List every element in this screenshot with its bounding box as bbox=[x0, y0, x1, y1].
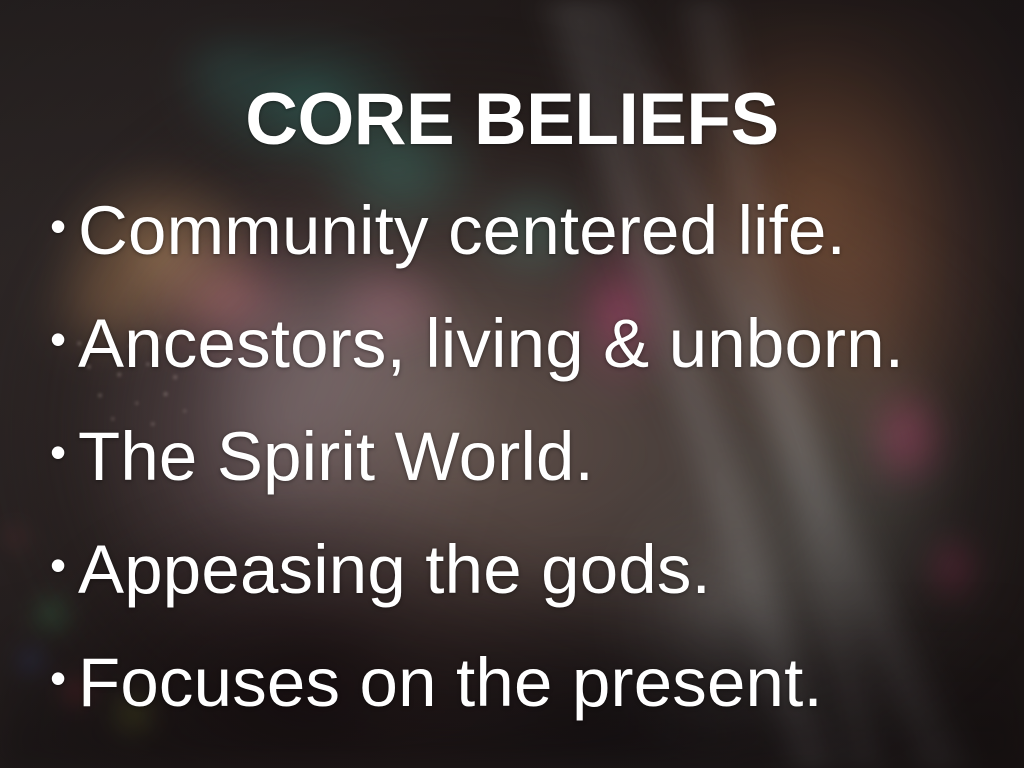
list-item: • Community centered life. bbox=[44, 196, 984, 309]
bullet-text: Appeasing the gods. bbox=[78, 535, 984, 604]
slide-content: CORE BELIEFS • Community centered life. … bbox=[0, 0, 1024, 768]
bullet-point-icon: • bbox=[50, 429, 84, 475]
bullet-point-icon: • bbox=[50, 203, 84, 249]
list-item: • Ancestors, living & unborn. bbox=[44, 309, 984, 422]
slide-title: CORE BELIEFS bbox=[0, 83, 1024, 156]
bullet-list: • Community centered life. • Ancestors, … bbox=[44, 196, 984, 761]
list-item: • Focuses on the present. bbox=[44, 648, 984, 761]
list-item: • Appeasing the gods. bbox=[44, 535, 984, 648]
bullet-text: Ancestors, living & unborn. bbox=[78, 309, 984, 378]
bullet-text: Focuses on the present. bbox=[78, 648, 984, 717]
bullet-text: Community centered life. bbox=[78, 196, 984, 265]
bullet-point-icon: • bbox=[50, 655, 84, 701]
bullet-point-icon: • bbox=[50, 542, 84, 588]
presentation-slide: CORE BELIEFS • Community centered life. … bbox=[0, 0, 1024, 768]
list-item: • The Spirit World. bbox=[44, 422, 984, 535]
bullet-text: The Spirit World. bbox=[78, 422, 984, 491]
bullet-point-icon: • bbox=[50, 316, 84, 362]
